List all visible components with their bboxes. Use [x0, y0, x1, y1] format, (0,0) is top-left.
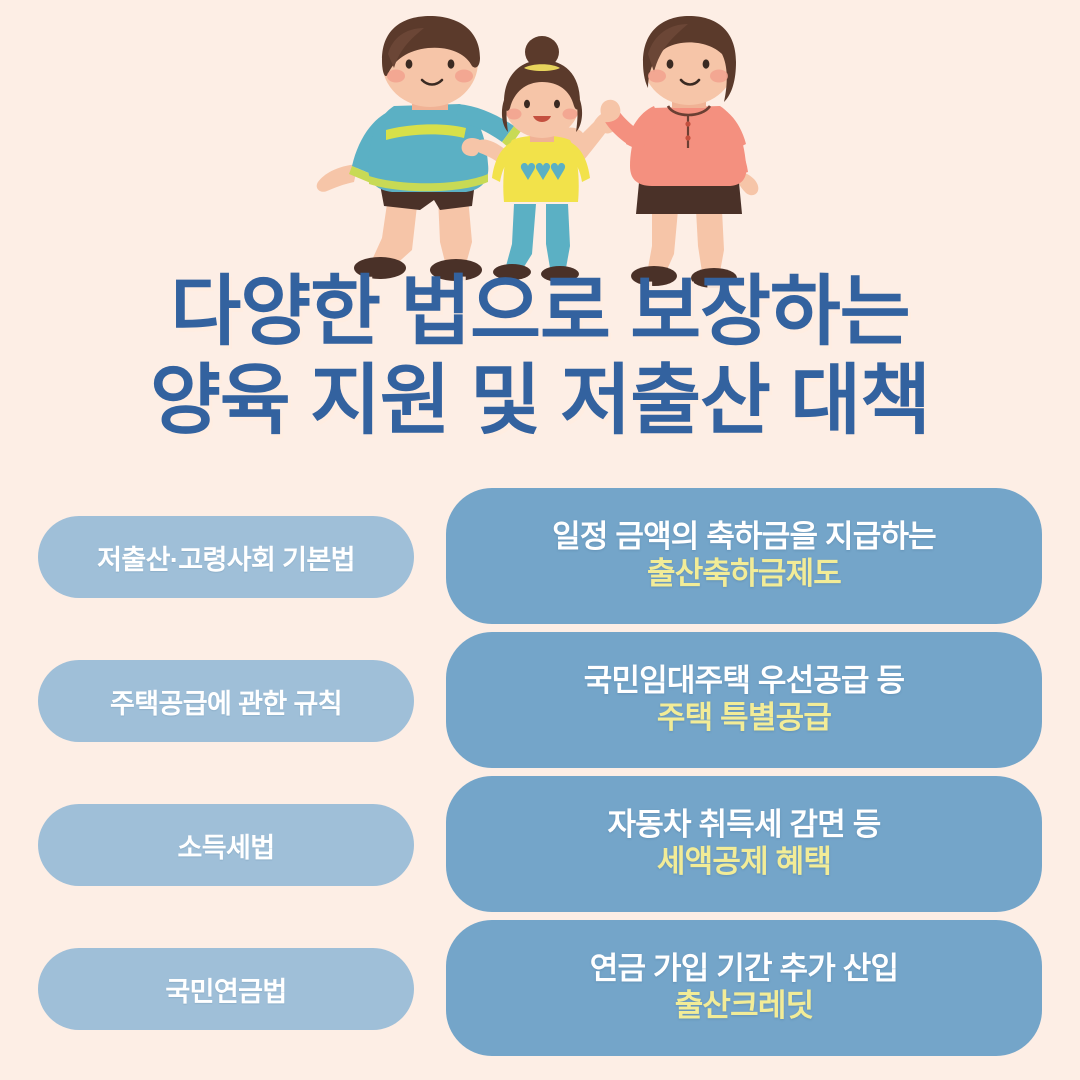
benefit-card-2[interactable]: 국민임대주택 우선공급 등 주택 특별공급: [446, 632, 1042, 768]
benefit-name: 세액공제 혜택: [657, 843, 831, 882]
law-pill-label: 주택공급에 관한 규칙: [110, 682, 342, 721]
benefit-description: 일정 금액의 축하금을 지급하는: [552, 518, 936, 555]
title-line-2: 양육 지원 및 저출산 대책: [0, 357, 1080, 446]
benefit-description: 국민임대주택 우선공급 등: [584, 662, 905, 699]
policy-row: 주택공급에 관한 규칙 국민임대주택 우선공급 등 주택 특별공급: [0, 632, 1080, 776]
title-line-1: 다양한 법으로 보장하는: [0, 268, 1080, 357]
benefit-card-4[interactable]: 연금 가입 기간 추가 산입 출산크레딧: [446, 920, 1042, 1056]
law-pill-2[interactable]: 주택공급에 관한 규칙: [38, 660, 414, 742]
policy-row: 저출산·고령사회 기본법 일정 금액의 축하금을 지급하는 출산축하금제도: [0, 488, 1080, 632]
benefit-card-3[interactable]: 자동차 취득세 감면 등 세액공제 혜택: [446, 776, 1042, 912]
law-pill-1[interactable]: 저출산·고령사회 기본법: [38, 516, 414, 598]
policy-row: 소득세법 자동차 취득세 감면 등 세액공제 혜택: [0, 776, 1080, 920]
law-pill-3[interactable]: 소득세법: [38, 804, 414, 886]
benefit-description: 자동차 취득세 감면 등: [608, 806, 881, 843]
benefit-description: 연금 가입 기간 추가 산입: [590, 950, 898, 987]
policy-rows: 저출산·고령사회 기본법 일정 금액의 축하금을 지급하는 출산축하금제도 주택…: [0, 488, 1080, 1064]
benefit-name: 주택 특별공급: [657, 699, 831, 738]
benefit-name: 출산크레딧: [675, 987, 814, 1026]
family-illustration: [300, 14, 780, 304]
benefit-name: 출산축하금제도: [647, 555, 841, 594]
page-title: 다양한 법으로 보장하는 양육 지원 및 저출산 대책: [0, 268, 1080, 447]
law-pill-label: 소득세법: [178, 826, 275, 865]
policy-row: 국민연금법 연금 가입 기간 추가 산입 출산크레딧: [0, 920, 1080, 1064]
law-pill-label: 국민연금법: [165, 970, 286, 1009]
poster-root: 다양한 법으로 보장하는 양육 지원 및 저출산 대책 저출산·고령사회 기본법…: [0, 0, 1080, 1080]
benefit-card-1[interactable]: 일정 금액의 축하금을 지급하는 출산축하금제도: [446, 488, 1042, 624]
mother-figure: [601, 16, 759, 288]
law-pill-4[interactable]: 국민연금법: [38, 948, 414, 1030]
law-pill-label: 저출산·고령사회 기본법: [97, 538, 355, 577]
